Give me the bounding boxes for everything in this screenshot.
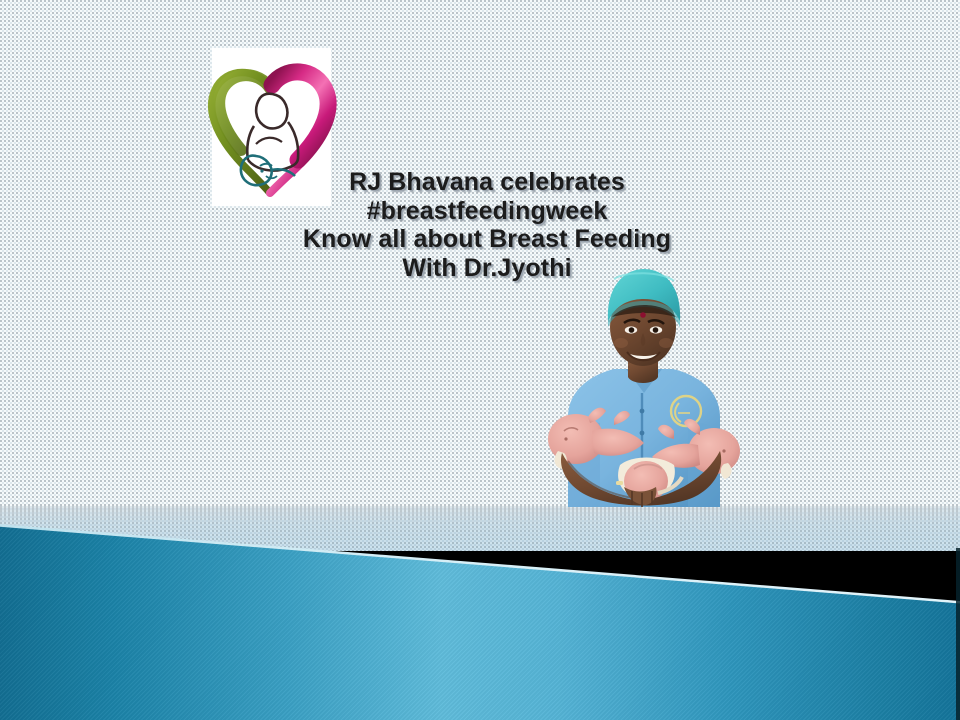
slide-title-block: RJ Bhavana celebrates #breastfeedingweek… (238, 168, 736, 282)
title-line-2-hashtag: #breastfeedingweek (238, 197, 736, 226)
doctor-holding-newborn-babies (528, 265, 758, 507)
title-line-1: RJ Bhavana celebrates (238, 168, 736, 197)
title-line-4-presenter: With Dr.Jyothi (238, 254, 736, 283)
slide-canvas: RJ Bhavana celebrates #breastfeedingweek… (0, 0, 960, 720)
title-line-3: Know all about Breast Feeding (238, 225, 736, 254)
right-edge-shadow-sliver (956, 548, 960, 720)
